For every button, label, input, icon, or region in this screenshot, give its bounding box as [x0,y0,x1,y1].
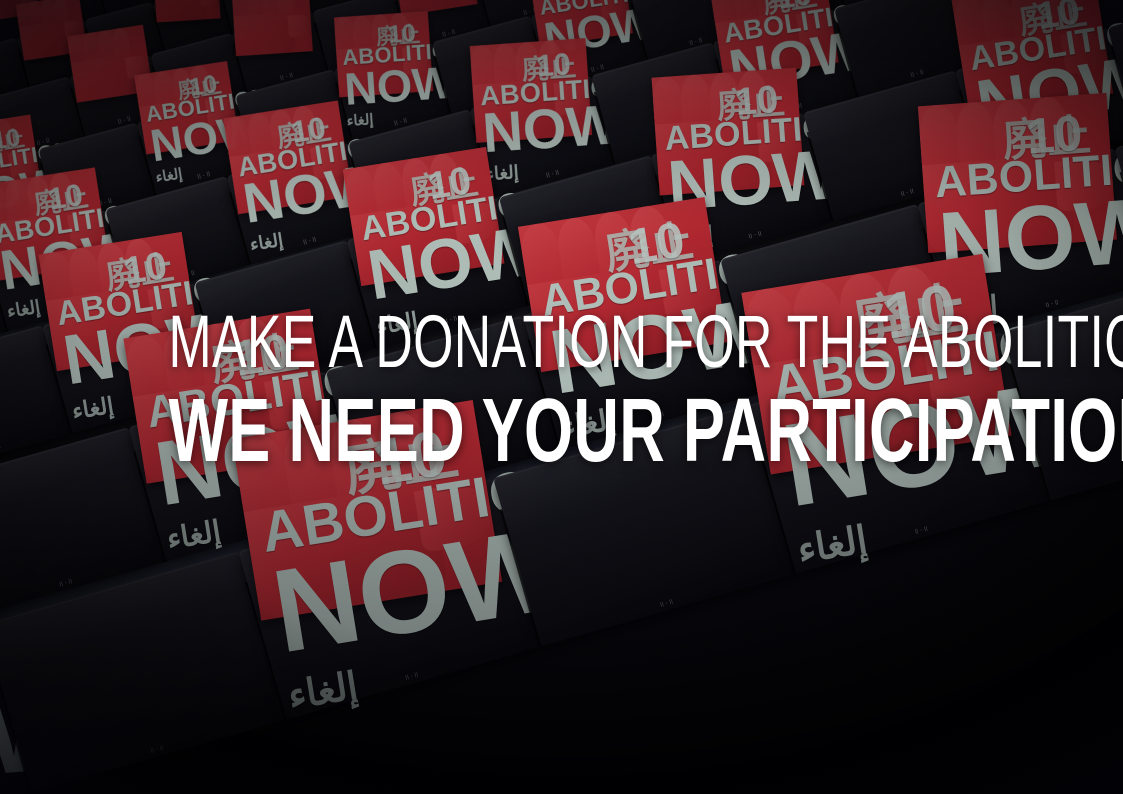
auditorium-photo: || - |||| - |||| - |||| - |||| - |||| - … [0,0,1123,794]
seat-row-label: || - || [748,230,762,239]
placard-arabic-label: إلغاء [795,503,979,569]
placard-arabic-label: إلغاء [286,650,470,716]
hand-icon [918,92,1117,252]
seat-row-label: || - || [660,599,674,608]
hand-icon [232,400,502,620]
seat-row-label: || - || [59,578,73,587]
hand-icon [223,100,352,213]
hand-icon [651,67,804,194]
seat-row-label: || - || [900,188,914,197]
hand-icon [742,254,1012,474]
abolition-now-placard: ABOLITIONNOWإلغاء廃止10 [134,61,239,154]
seat-row-label: || - || [405,672,419,681]
theater-seat: || - ||ABOLITIONNOWإلغاء廃止10 [748,332,1051,573]
hand-icon [709,0,838,80]
seat-row-label: || - || [444,315,458,324]
abolition-now-placard: ABOLITIONNOWإلغاء廃止10 [232,400,502,620]
promo-banner: || - |||| - |||| - |||| - |||| - |||| - … [0,0,1123,794]
seat-row-label: || - || [303,236,317,245]
seat-row-label: || - || [1045,299,1059,308]
hand-icon [343,147,505,286]
seat-row-label: || - || [150,745,164,754]
abolition-now-placard [232,0,313,56]
hand-icon [134,61,239,154]
seat-row-label: || - || [914,525,928,534]
abolition-now-placard: ABOLITIONNOWإلغاء廃止10 [918,92,1117,252]
seat-row-label: || - || [546,169,560,178]
seat-row-label: || - || [0,443,2,452]
hand-icon [232,0,313,56]
theater-seat: || - ||ABOLITIONNOWإلغاء廃止10 [238,478,541,719]
abolition-now-placard [152,0,220,22]
hand-icon [152,0,220,22]
seat-row-label: || - || [651,411,665,420]
hand-icon [518,197,727,372]
seat-row-label: || - || [197,171,211,180]
abolition-now-placard: ABOLITIONNOWإلغاء廃止10 [518,197,727,372]
abolition-now-placard: ABOLITIONNOWإلغاء廃止10 [223,100,352,213]
abolition-now-placard: ABOLITIONNOWإلغاء廃止10 [742,254,1012,474]
hand-icon [334,11,433,97]
abolition-now-placard: ABOLITIONNOWإلغاء廃止10 [470,38,592,142]
abolition-now-placard: ABOLITIONNOWإلغاء廃止10 [334,11,433,97]
abolition-now-placard: ABOLITIONNOWإلغاء廃止10 [709,0,838,80]
seat-row-label: || - || [910,69,924,78]
hand-icon [470,38,592,142]
abolition-now-placard: ABOLITIONNOWإلغاء廃止10 [343,147,505,286]
abolition-now-placard: ABOLITIONNOWإلغاء廃止10 [651,67,804,194]
